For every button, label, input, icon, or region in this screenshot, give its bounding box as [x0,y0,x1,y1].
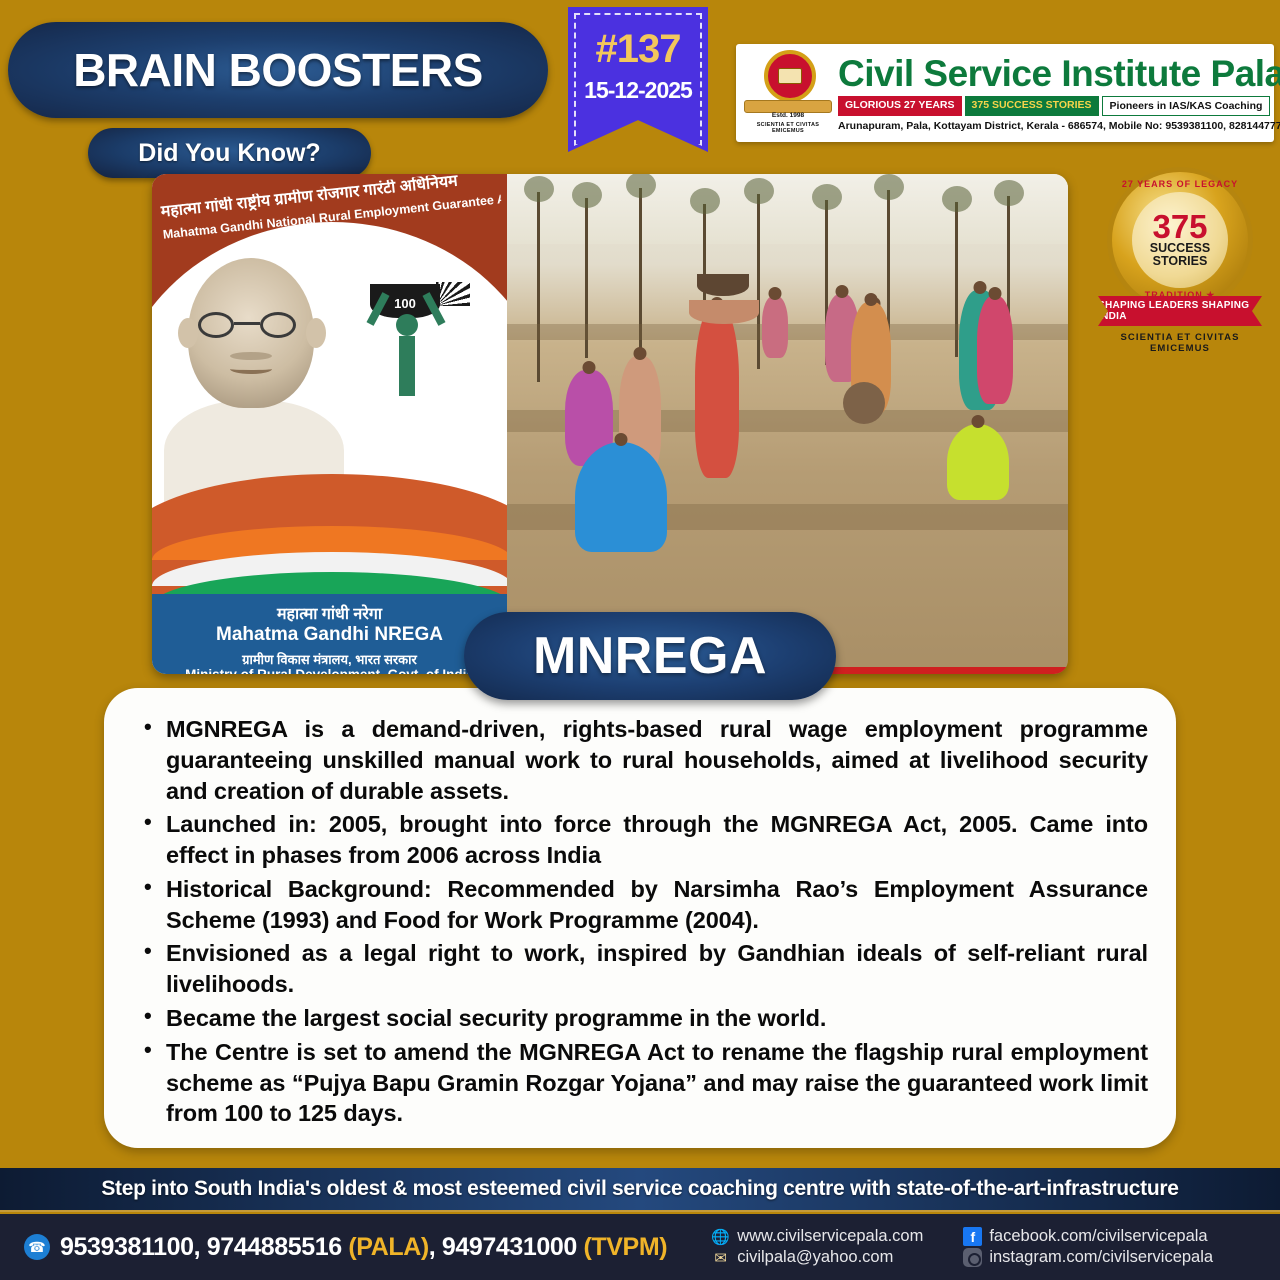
list-item: Became the largest social security progr… [138,1003,1148,1034]
badge-pioneers: Pioneers in IAS/KAS Coaching [1102,96,1271,116]
seal-line-1: SUCCESS [1150,242,1210,255]
institute-name: Civil Service Institute Pala [838,55,1280,92]
social-block: f facebook.com/civilservicepala instagra… [963,1227,1213,1267]
phone-numbers-tvpm: , 9497431000 [429,1233,584,1261]
list-item: The Centre is set to amend the MGNREGA A… [138,1037,1148,1129]
phone-icon: ☎ [24,1234,50,1260]
facts-list: MGNREGA is a demand-driven, rights-based… [138,714,1148,1129]
crest-seal-icon [764,50,816,102]
mnrega-title-badge: MNREGA [464,612,836,700]
facebook-url: facebook.com/civilservicepala [989,1227,1207,1246]
instagram-url: instagram.com/civilservicepala [989,1248,1213,1267]
facebook-row[interactable]: f facebook.com/civilservicepala [963,1227,1213,1246]
issue-ribbon: #137 15-12-2025 [568,7,708,152]
phone-label-pala: (PALA) [348,1233,428,1261]
web-block: 🌐 www.civilservicepala.com ✉ civilpala@y… [711,1227,923,1267]
badge-success-stories: 375 SUCCESS STORIES [965,96,1099,116]
seal-banner: SHAPING LEADERS SHAPING INDIA [1098,296,1262,326]
content-card: MGNREGA is a demand-driven, rights-based… [104,688,1176,1148]
header-bar: BRAIN BOOSTERS Did You Know? #137 15-12-… [0,0,1280,178]
email-row[interactable]: ✉ civilpala@yahoo.com [711,1248,923,1267]
rural-workers-photo [507,174,1068,674]
poster-ministry-hindi: ग्रामीण विकास मंत्रालय, भारत सरकार [152,650,507,668]
instagram-row[interactable]: instagram.com/civilservicepala [963,1248,1213,1267]
seal-inner: 375 SUCCESS STORIES [1132,192,1228,288]
gandhi-portrait-icon [164,252,344,512]
website-row[interactable]: 🌐 www.civilservicepala.com [711,1227,923,1246]
seal-number: 375 [1152,212,1207,242]
footer-tagline-bar: Step into South India's oldest & most es… [0,1168,1280,1212]
logo-badge-row: GLORIOUS 27 YEARS 375 SUCCESS STORIES Pi… [838,96,1280,116]
crest-estd-text: Estd. 1998 [742,112,834,119]
institute-address: Arunapuram, Pala, Kottayam District, Ker… [838,120,1280,132]
phone-label-tvpm: (TVPM) [583,1233,667,1261]
footer-contact-bar: ☎ 9539381100, 9744885516 (PALA), 9497431… [0,1214,1280,1280]
globe-icon: 🌐 [711,1227,730,1246]
issue-number: #137 [568,27,708,72]
mgnrega-poster-image: महात्मा गांधी राष्ट्रीय ग्रामीण रोजगार ग… [152,174,507,674]
media-panel: महात्मा गांधी राष्ट्रीय ग्रामीण रोजगार ग… [152,174,1068,674]
mgnrega-emblem-icon: 100 [338,284,498,434]
seal-line-2: STORIES [1153,255,1208,268]
phone-numbers-pala: 9539381100, 9744885516 [60,1233,348,1261]
logo-text-block: Civil Service Institute Pala GLORIOUS 27… [834,55,1280,132]
institute-crest-icon: Estd. 1998 SCIENTIA ET CIVITAS EMICEMUS [742,48,834,138]
success-stories-seal: 27 YEARS OF LEGACY 375 SUCCESS STORIES T… [1098,172,1262,362]
facebook-icon: f [963,1227,982,1246]
list-item: Historical Background: Recommended by Na… [138,874,1148,936]
list-item: Envisioned as a legal right to work, ins… [138,938,1148,1000]
open-book-icon [778,68,802,84]
brain-boosters-title: BRAIN BOOSTERS [8,22,548,118]
seal-motto: SCIENTIA ET CIVITAS EMICEMUS [1098,332,1262,354]
issue-date: 15-12-2025 [568,77,708,104]
badge-glorious-years: GLORIOUS 27 YEARS [838,96,962,116]
poster-title-hindi: महात्मा गांधी नरेगा [152,602,507,624]
list-item: Launched in: 2005, brought into force th… [138,809,1148,871]
poster-title-english: Mahatma Gandhi NREGA [152,624,507,646]
brain-boosters-label: BRAIN BOOSTERS [73,43,483,97]
phone-numbers: 9539381100, 9744885516 (PALA), 949743100… [60,1233,667,1262]
did-you-know-badge: Did You Know? [88,128,371,178]
institute-logo-bar: Estd. 1998 SCIENTIA ET CIVITAS EMICEMUS … [736,44,1274,142]
crest-motto-text: SCIENTIA ET CIVITAS EMICEMUS [742,122,834,134]
email-address: civilpala@yahoo.com [737,1248,893,1267]
poster-ministry-english: Ministry of Rural Development, Govt. of … [152,667,507,674]
phone-block: ☎ 9539381100, 9744885516 (PALA), 9497431… [24,1233,667,1262]
seal-arc-top: 27 YEARS OF LEGACY [1112,179,1248,189]
seal-banner-label: SHAPING LEADERS SHAPING INDIA [1098,300,1262,322]
envelope-icon: ✉ [711,1248,730,1267]
list-item: MGNREGA is a demand-driven, rights-based… [138,714,1148,806]
did-you-know-label: Did You Know? [138,139,320,168]
instagram-icon [963,1248,982,1267]
footer-tagline: Step into South India's oldest & most es… [101,1177,1178,1201]
website-url: www.civilservicepala.com [737,1227,923,1246]
mnrega-title-label: MNREGA [533,626,767,686]
